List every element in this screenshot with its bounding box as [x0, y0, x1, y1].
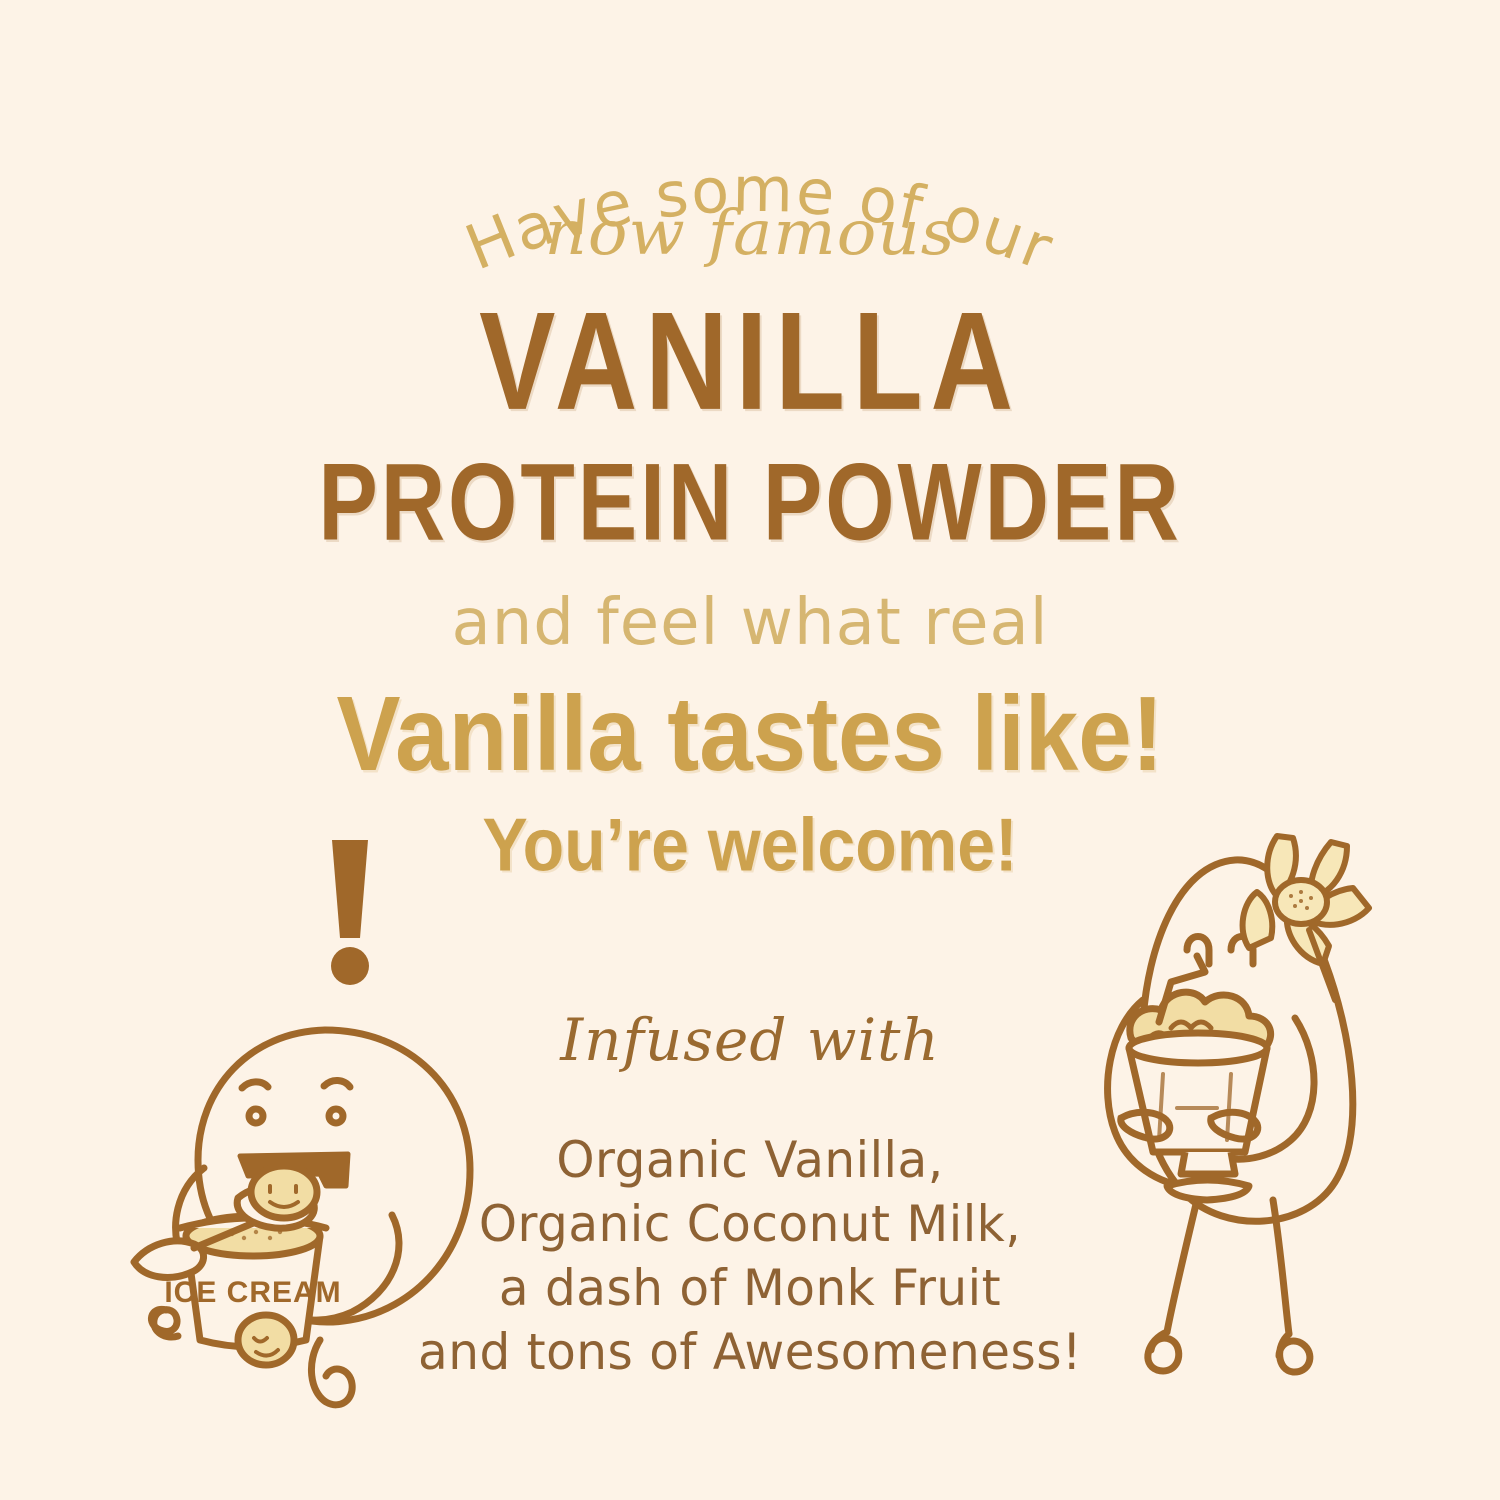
ingredient-line-1: Organic Vanilla,	[23, 1128, 1478, 1192]
title-line-protein-powder: PROTEIN POWDER	[8, 448, 1493, 558]
vanilla-flower-icon	[1243, 836, 1369, 1000]
poster-canvas: Have some of our now famous VANILLA PROT…	[0, 0, 1500, 1500]
ingredients-list: Organic Vanilla, Organic Coconut Milk, a…	[0, 1128, 1500, 1384]
script-subtitle: now famous	[0, 196, 1500, 269]
title-block: VANILLA PROTEIN POWDER	[0, 292, 1500, 538]
middle-line-and-feel: and feel what real	[0, 586, 1500, 660]
ingredient-line-3: a dash of Monk Fruit	[23, 1256, 1478, 1320]
ingredient-line-2: Organic Coconut Milk,	[23, 1192, 1478, 1256]
title-line-vanilla: VANILLA	[23, 292, 1478, 431]
exclamation-mark-icon	[300, 836, 400, 986]
ingredient-line-4: and tons of Awesomeness!	[23, 1320, 1478, 1384]
face-eyes	[242, 1080, 350, 1123]
middle-line-vanilla-tastes: Vanilla tastes like!	[0, 675, 1500, 796]
infused-with-label: Infused with	[0, 1006, 1500, 1074]
